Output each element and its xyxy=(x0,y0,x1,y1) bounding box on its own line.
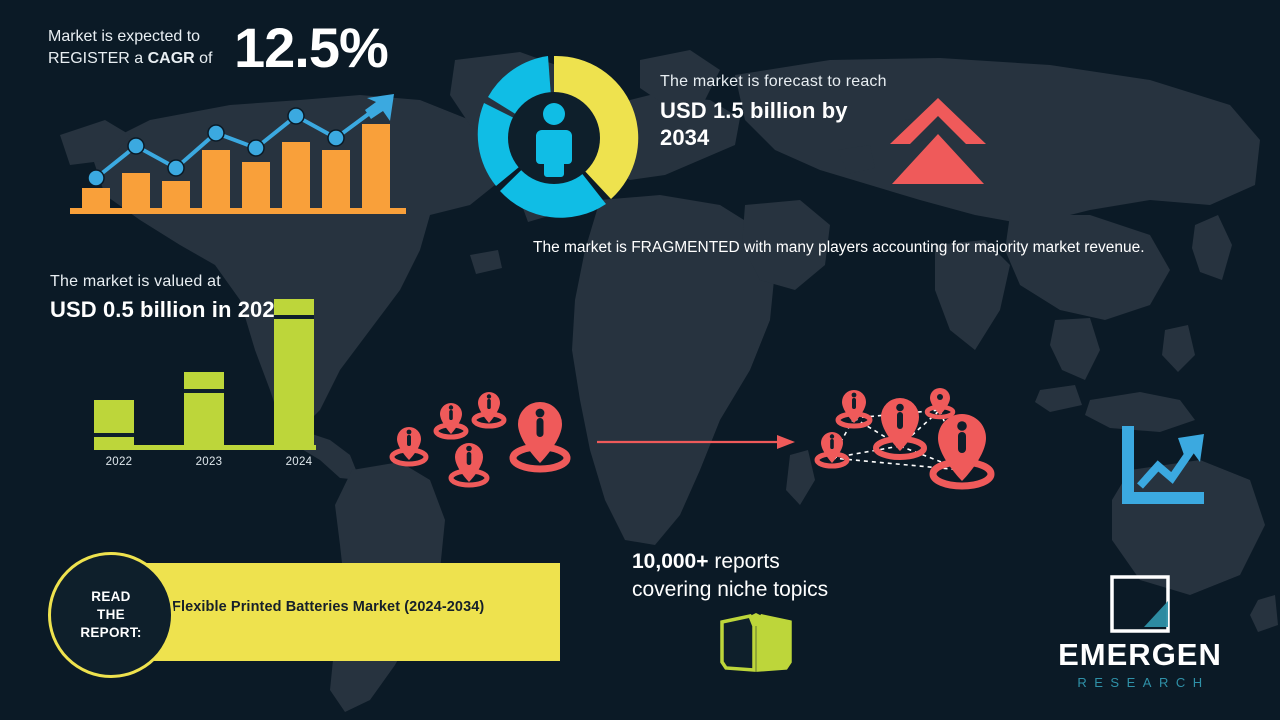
cagr-label-bold: CAGR xyxy=(148,50,195,67)
cagr-label-line1: Market is expected to xyxy=(48,26,228,48)
read-report-line2: THE xyxy=(97,607,125,622)
valuation-xtick-2023: 2023 xyxy=(174,456,244,468)
valuation-xtick-2022: 2022 xyxy=(84,456,154,468)
reports-line1: 10,000+ reports xyxy=(632,548,828,576)
growth-chart-arrow-head xyxy=(365,94,394,121)
cagr-label: Market is expected to REGISTER a CAGR of xyxy=(48,20,228,69)
read-report-label: READ THE REPORT: xyxy=(80,588,141,643)
forecast-value: USD 1.5 billion by 2034 xyxy=(660,97,900,152)
valuation-bars xyxy=(94,299,314,445)
market-share-donut xyxy=(468,52,640,224)
double-chevron-up-icon xyxy=(888,96,988,186)
map-pin-cluster-icon xyxy=(385,390,585,495)
emergen-research-logo: EMERGEN RESEARCH xyxy=(1020,575,1260,690)
right-arrow-icon xyxy=(597,432,797,452)
cagr-label-pre: REGISTER a xyxy=(48,50,148,67)
growth-chart-baseline xyxy=(70,208,406,214)
read-report-line1: READ xyxy=(91,589,130,604)
reports-line1-rest: reports xyxy=(709,550,780,573)
open-book-icon xyxy=(720,612,792,674)
valuation-baseline xyxy=(94,445,316,450)
growth-chart-icon xyxy=(1118,424,1208,510)
valuation-lead: The market is valued at xyxy=(50,272,310,293)
fragmentation-text: The market is FRAGMENTED with many playe… xyxy=(533,236,1233,259)
valuation-bar-chart xyxy=(78,295,328,450)
cagr-label-line2: REGISTER a CAGR of xyxy=(48,48,228,70)
forecast-lead: The market is forecast to reach xyxy=(660,72,900,93)
read-report-button[interactable]: READ THE REPORT: xyxy=(48,552,174,678)
forecast-block: The market is forecast to reach USD 1.5 … xyxy=(660,72,900,152)
growth-bar-chart xyxy=(70,88,410,218)
reports-block: 10,000+ reports covering niche topics xyxy=(632,548,828,605)
square-chart-logo-icon xyxy=(1110,575,1170,633)
report-title[interactable]: Flexible Printed Batteries Market (2024-… xyxy=(172,599,484,615)
cagr-label-post: of xyxy=(195,50,213,67)
reports-count: 10,000+ xyxy=(632,550,709,573)
reports-line2: covering niche topics xyxy=(632,576,828,604)
cagr-value: 12.5% xyxy=(234,20,388,76)
infographic-canvas: Market is expected to REGISTER a CAGR of… xyxy=(0,0,1280,720)
logo-subtitle: RESEARCH xyxy=(1020,675,1260,690)
valuation-xtick-2024: 2024 xyxy=(264,456,334,468)
connected-map-pin-network-icon xyxy=(812,388,1007,500)
read-report-line3: REPORT: xyxy=(80,625,141,640)
logo-name: EMERGEN xyxy=(1020,639,1260,670)
